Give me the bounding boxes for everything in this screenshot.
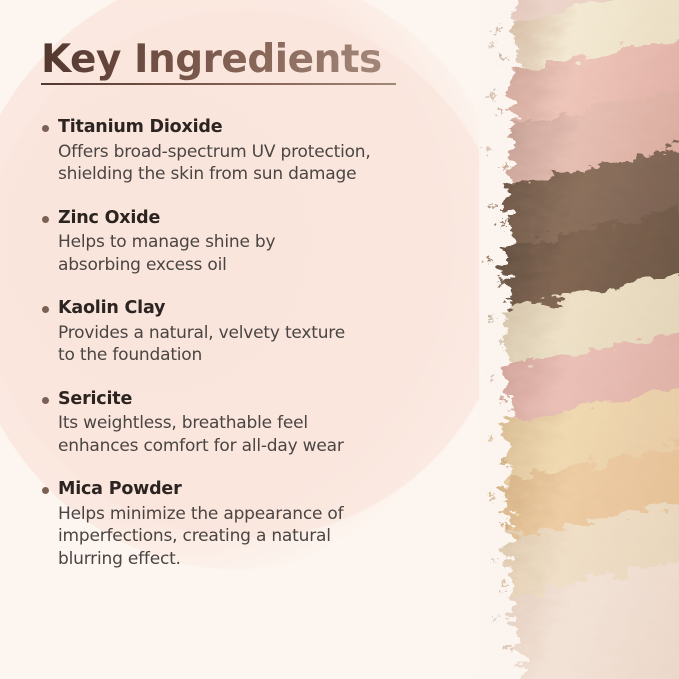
bullet-dot-icon [42,397,49,404]
bullet-dot-icon [42,125,49,132]
list-item: Mica Powder Helps minimize the appearanc… [38,478,438,570]
ingredient-description: Its weightless, breathable feel enhances… [58,412,438,457]
list-item: Sericite Its weightless, breathable feel… [38,388,438,458]
list-item: Titanium Dioxide Offers broad-spectrum U… [38,116,438,186]
bullet-dot-icon [42,487,49,494]
bullet-dot-icon [42,216,49,223]
text-column: Key Ingredients Titanium Dioxide Offers … [0,0,470,679]
ingredient-name: Sericite [58,388,438,412]
ingredient-name: Titanium Dioxide [58,116,438,140]
ingredient-description: Offers broad-spectrum UV protection, shi… [58,141,438,186]
ingredient-name: Kaolin Clay [58,297,438,321]
bullet-dot-icon [42,306,49,313]
ingredient-description: Provides a natural, velvety texture to t… [58,322,438,367]
ingredient-description: Helps minimize the appearance of imperfe… [58,503,438,570]
ingredient-name: Zinc Oxide [58,207,438,231]
page-title-block: Key Ingredients [41,40,413,85]
ingredient-description: Helps to manage shine by absorbing exces… [58,231,438,276]
powder-swatch-image [479,0,679,679]
list-item: Zinc Oxide Helps to manage shine by abso… [38,207,438,277]
ingredients-infographic: Key Ingredients Titanium Dioxide Offers … [0,0,679,679]
list-item: Kaolin Clay Provides a natural, velvety … [38,297,438,367]
page-title: Key Ingredients [41,40,413,81]
title-underline [41,83,396,85]
ingredient-name: Mica Powder [58,478,438,502]
ingredients-list: Titanium Dioxide Offers broad-spectrum U… [38,116,438,570]
